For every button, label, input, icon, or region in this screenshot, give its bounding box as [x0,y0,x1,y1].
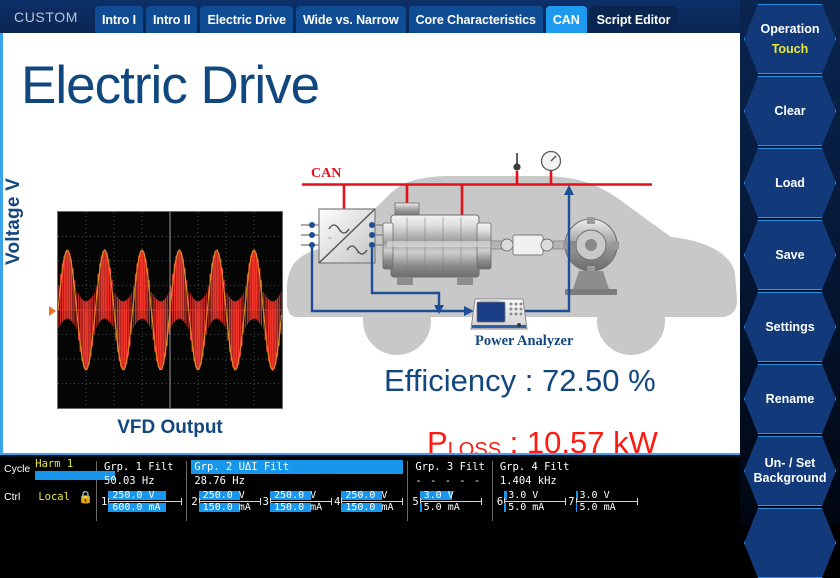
can-bus-label: CAN [311,166,341,181]
custom-label: CUSTOM [8,9,92,33]
group-title[interactable]: Grp. 1 Filt [101,460,182,474]
sensor-icons [513,152,560,171]
group-frequency: 28.76 Hz [191,474,403,488]
softkey-unset-background[interactable]: Un- / Set Background [744,436,836,506]
soft-key-sidebar: Operation Touch Clear Load Save Settings… [740,0,840,525]
waveform-svg [58,212,282,408]
softkey-settings-label: Settings [765,320,814,335]
softkey-rename[interactable]: Rename [744,364,836,434]
waveform-display[interactable] [57,211,283,409]
channel-5[interactable]: 53.0 V5.0 mA [412,490,481,513]
group-title[interactable]: Grp. 2 UΔI Filt [191,460,403,474]
channel-voltage-value: 3.0 V [504,490,538,501]
channel-3[interactable]: 3250.0 V150.0 mA [263,490,332,513]
status-group-4[interactable]: Grp. 4 Filt1.404 kHz63.0 V5.0 mA73.0 V5.… [493,457,642,525]
softkey-settings[interactable]: Settings [744,292,836,362]
channel-1[interactable]: 1250.0 V600.0 mA [101,490,182,513]
power-loss-readout: PLOSS : 10.57 kW [427,425,658,455]
lock-icon[interactable]: 🔒 [78,490,93,504]
cycle-value[interactable]: Harm 1 [35,458,73,470]
tab-electric-drive[interactable]: Electric Drive [200,6,293,33]
motor-icon [383,203,491,285]
main-panel: Electric Drive Voltage V [0,33,740,455]
ploss-subscript: LOSS [448,439,501,455]
power-analyzer-icon [471,299,527,329]
tab-intro-2[interactable]: Intro II [146,6,197,33]
tab-wide-vs-narrow[interactable]: Wide vs. Narrow [296,6,406,33]
softkey-clear[interactable]: Clear [744,76,836,146]
probe-dots-input [309,222,315,248]
tab-intro-1[interactable]: Intro I [95,6,143,33]
softkey-empty[interactable] [744,508,836,578]
channel-voltage-value: 3.0 V [576,490,610,501]
inverter-icon: ~ ~ [319,209,375,263]
group-title[interactable]: Grp. 3 Filt [412,460,488,474]
ctrl-value[interactable]: Local [38,491,70,503]
group-frequency: 50.03 Hz [101,474,182,488]
trigger-level-marker [49,306,56,316]
softkey-rename-label: Rename [766,392,815,407]
status-group-2[interactable]: Grp. 2 UΔI Filt28.76 Hz2250.0 V150.0 mA3… [187,457,407,525]
group-frequency: - - - - - [412,474,488,488]
softkey-operation-value: Touch [772,42,809,57]
softkey-load-label: Load [775,176,805,191]
cycle-label: Cycle [4,463,30,475]
channel-4[interactable]: 4250.0 V150.0 mA [334,490,403,513]
ploss-value: 10.57 kW [527,425,658,455]
group-title[interactable]: Grp. 4 Filt [497,460,638,474]
channel-number: 5 [412,496,418,508]
channel-2[interactable]: 2250.0 V150.0 mA [191,490,260,513]
group-frequency: 1.404 kHz [497,474,638,488]
efficiency-label: Efficiency : [384,363,533,398]
status-cycle-ctrl: Cycle Harm 1 Ctrl Local 🔒 [0,457,96,525]
channel-current-value: 600.0 mA [108,502,160,513]
svg-text:~: ~ [328,236,332,242]
channel-number: 1 [101,496,107,508]
status-group-1[interactable]: Grp. 1 Filt50.03 Hz1250.0 V600.0 mA [97,457,186,525]
softkey-save-label: Save [775,248,804,263]
channel-current-value: 5.0 mA [420,502,460,513]
tab-can[interactable]: CAN [546,6,587,33]
efficiency-value: 72.50 % [542,363,656,398]
ctrl-label: Ctrl [4,491,20,503]
softkey-operation-label: Operation [760,22,819,37]
softkey-unset-background-label: Un- / Set Background [754,456,827,486]
channel-current-value: 150.0 mA [341,502,393,513]
channel-current-value: 150.0 mA [199,502,251,513]
scope-x-axis-label: VFD Output [57,417,283,439]
softkey-operation[interactable]: Operation Touch [744,4,836,74]
probe-dots-output [369,222,375,248]
channel-number: 7 [568,496,574,508]
channel-current-value: 150.0 mA [270,502,322,513]
power-analyzer-label: Power Analyzer [475,333,574,349]
scope-widget: Voltage V [19,205,289,445]
channel-number: 4 [334,496,340,508]
channel-voltage-value: 3.0 V [420,490,454,501]
channel-current-value: 5.0 mA [576,502,616,513]
channel-number: 6 [497,496,503,508]
tab-bar: CUSTOM Intro I Intro II Electric Drive W… [0,0,740,33]
ploss-separator: : [501,425,527,455]
tab-script-editor[interactable]: Script Editor [590,6,678,33]
softkey-load[interactable]: Load [744,148,836,218]
status-bar: Cycle Harm 1 Ctrl Local 🔒 Grp. 1 Filt50.… [0,457,740,525]
channel-number: 3 [263,496,269,508]
channel-6[interactable]: 63.0 V5.0 mA [497,490,566,513]
status-group-3[interactable]: Grp. 3 Filt- - - - -53.0 V5.0 mA [408,457,492,525]
channel-number: 2 [191,496,197,508]
tab-core-characteristics[interactable]: Core Characteristics [409,6,543,33]
softkey-save[interactable]: Save [744,220,836,290]
ploss-label: P [427,425,448,455]
softkey-clear-label: Clear [774,104,805,119]
channel-current-value: 5.0 mA [504,502,544,513]
channel-voltage-value: 250.0 V [341,490,387,501]
channel-voltage-value: 250.0 V [108,490,154,501]
page-title: Electric Drive [21,55,319,116]
svg-text:~: ~ [357,251,361,257]
scope-y-axis-label: Voltage V [3,145,25,265]
channel-voltage-value: 250.0 V [199,490,245,501]
channel-7[interactable]: 73.0 V5.0 mA [568,490,637,513]
channel-voltage-value: 250.0 V [270,490,316,501]
efficiency-readout: Efficiency : 72.50 % [384,363,656,399]
instrument-screen: CUSTOM Intro I Intro II Electric Drive W… [0,0,840,525]
drivetrain-diagram: CAN ~ ~ [279,133,740,358]
